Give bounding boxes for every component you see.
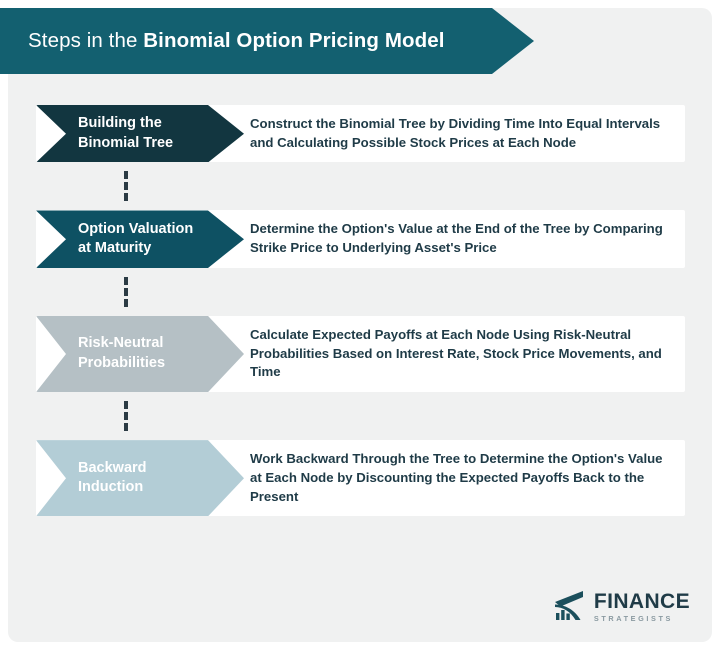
- step-label: BackwardInduction: [36, 459, 159, 498]
- step-row: Building theBinomial Tree Construct the …: [36, 105, 685, 162]
- step-row: Option Valuationat Maturity Determine th…: [36, 210, 685, 267]
- page-title: Steps in the Binomial Option Pricing Mod…: [0, 29, 445, 53]
- step-chevron-1: Building theBinomial Tree: [36, 105, 244, 162]
- step-chevron-2: Option Valuationat Maturity: [36, 210, 244, 267]
- step-row: Risk-NeutralProbabilities Calculate Expe…: [36, 316, 685, 392]
- page-title-prefix: Steps in the: [28, 29, 143, 52]
- step-label: Building theBinomial Tree: [36, 114, 185, 153]
- finance-strategists-logo-icon: [553, 591, 587, 621]
- step-connector-2: [36, 268, 685, 316]
- step-connector-3: [36, 392, 685, 440]
- infographic-root: Steps in the Binomial Option Pricing Mod…: [0, 0, 720, 650]
- step-label: Option Valuationat Maturity: [36, 220, 205, 259]
- steps-list: Building theBinomial Tree Construct the …: [36, 105, 685, 516]
- step-label: Risk-NeutralProbabilities: [36, 334, 177, 373]
- step-description: Work Backward Through the Tree to Determ…: [244, 440, 685, 516]
- brand-logo: FINANCE STRATEGISTS: [553, 591, 690, 622]
- step-connector-1: [36, 162, 685, 210]
- logo-wordmark: FINANCE STRATEGISTS: [594, 591, 690, 622]
- step-row: BackwardInduction Work Backward Through …: [36, 440, 685, 516]
- logo-name: FINANCE: [594, 591, 690, 612]
- step-chevron-4: BackwardInduction: [36, 440, 244, 516]
- step-description: Calculate Expected Payoffs at Each Node …: [244, 316, 685, 392]
- page-title-emphasis: Binomial Option Pricing Model: [143, 29, 444, 52]
- step-description: Determine the Option's Value at the End …: [244, 210, 685, 267]
- step-chevron-3: Risk-NeutralProbabilities: [36, 316, 244, 392]
- logo-subtitle: STRATEGISTS: [594, 615, 690, 622]
- step-description: Construct the Binomial Tree by Dividing …: [244, 105, 685, 162]
- header-banner: Steps in the Binomial Option Pricing Mod…: [0, 8, 534, 74]
